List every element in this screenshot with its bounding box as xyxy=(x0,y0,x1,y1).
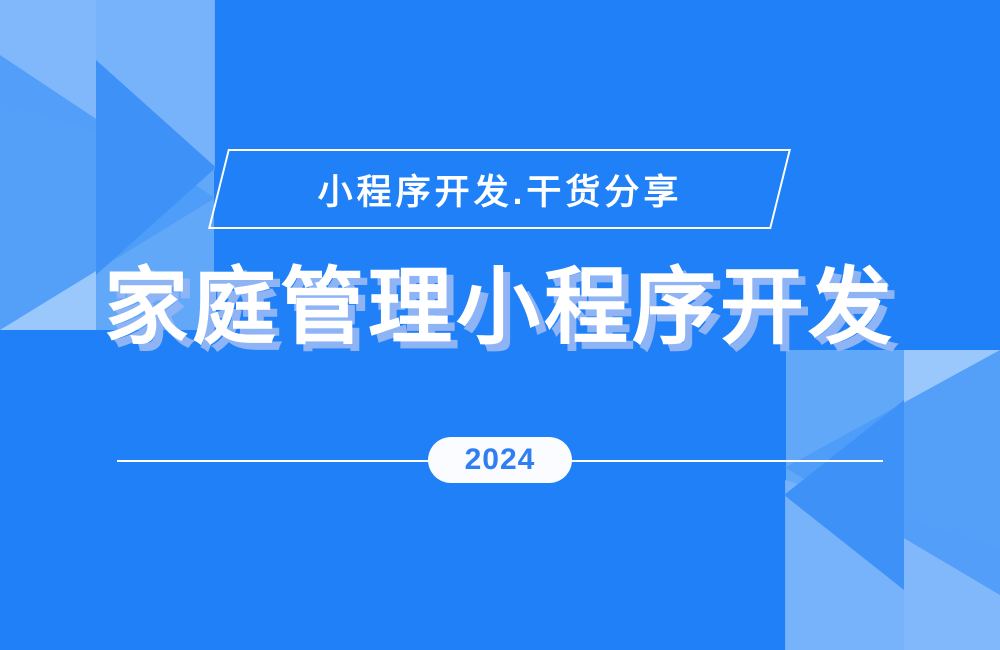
subtitle-text: 小程序开发.干货分享 xyxy=(0,149,1000,229)
page-title: 家庭管理小程序开发 xyxy=(0,265,1000,349)
decor-bottom-right-light-band xyxy=(904,350,1000,650)
decor-bottom-right-mid-band xyxy=(786,350,904,650)
decor-bottom-right-lower-wedge xyxy=(785,480,1000,650)
decor-bottom-right-spill-wedge xyxy=(784,400,904,590)
promo-banner: 小程序开发.干货分享 家庭管理小程序开发 2024 xyxy=(0,0,1000,650)
year-badge: 2024 xyxy=(428,437,572,483)
decor-top-left-upper-wedge xyxy=(0,0,215,170)
divider-line-right xyxy=(571,460,883,462)
year-badge-label: 2024 xyxy=(465,443,536,477)
decor-bottom-right-arrow-wedge xyxy=(785,350,1000,595)
divider-line-left xyxy=(117,460,429,462)
